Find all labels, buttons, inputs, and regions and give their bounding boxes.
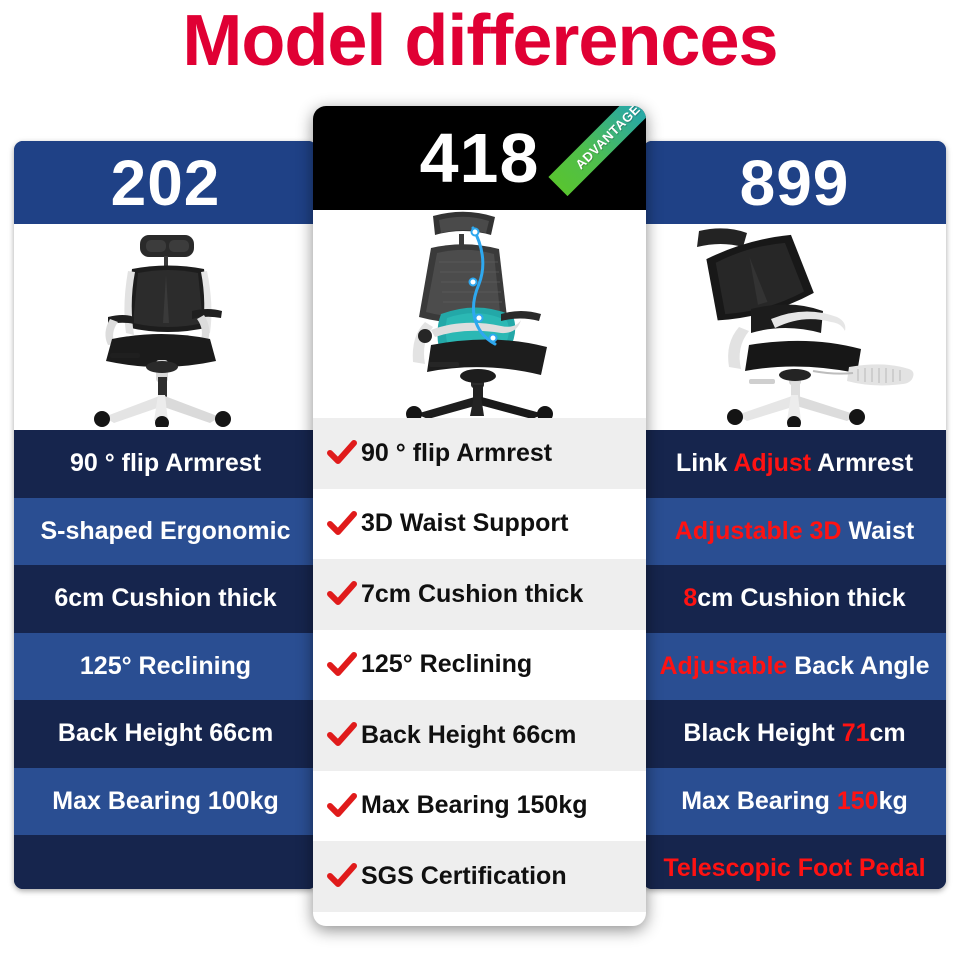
red-check-icon	[327, 863, 357, 889]
model-number-418: 418	[420, 123, 540, 193]
red-check-icon	[327, 440, 357, 466]
feature-row: Back Height 66cm	[14, 700, 317, 768]
feature-list-899: Link Adjust Armrest Adjustable 3D Waist …	[643, 430, 946, 889]
model-column-418: 418 ADVANTAGES	[313, 106, 646, 926]
feature-row: 125° Reclining	[14, 633, 317, 701]
red-check-icon	[327, 722, 357, 748]
feature-row: Black Height 71cm	[643, 700, 946, 768]
feature-row-empty	[14, 835, 317, 889]
model-header-418: 418 ADVANTAGES	[313, 106, 646, 210]
model-header-202: 202	[14, 141, 317, 227]
feature-list-418: 90 ° flip Armrest 3D Waist Support 7cm C…	[313, 418, 646, 912]
feature-row: Max Bearing 150kg	[313, 771, 646, 842]
red-check-icon	[327, 581, 357, 607]
advantages-ribbon-label: ADVANTAGES	[572, 106, 646, 172]
feature-row: Back Height 66cm	[313, 700, 646, 771]
chair-illustration-899	[643, 227, 946, 427]
red-check-icon	[327, 793, 357, 819]
model-number-899: 899	[740, 151, 850, 215]
advantages-ribbon: ADVANTAGES	[548, 106, 646, 196]
feature-row: Max Bearing 100kg	[14, 768, 317, 836]
feature-row: Link Adjust Armrest	[643, 430, 946, 498]
feature-row: 7cm Cushion thick	[313, 559, 646, 630]
model-header-899: 899	[643, 141, 946, 227]
feature-row: 90 ° flip Armrest	[14, 430, 317, 498]
feature-row: 90 ° flip Armrest	[313, 418, 646, 489]
feature-row: Telescopic Foot Pedal	[643, 835, 946, 889]
chair-photo-202	[14, 227, 317, 430]
feature-row: 6cm Cushion thick	[14, 565, 317, 633]
model-column-202: 202	[14, 141, 317, 889]
chair-illustration-202	[14, 227, 317, 427]
page-title: Model differences	[0, 4, 960, 80]
feature-row: 125° Reclining	[313, 630, 646, 701]
feature-row: Adjustable Back Angle	[643, 633, 946, 701]
feature-row: Max Bearing 150kg	[643, 768, 946, 836]
feature-row: S-shaped Ergonomic	[14, 498, 317, 566]
model-number-202: 202	[111, 151, 221, 215]
feature-row: 3D Waist Support	[313, 489, 646, 560]
comparison-infographic: Model differences 202	[0, 0, 960, 960]
feature-list-202: 90 ° flip Armrest S-shaped Ergonomic 6cm…	[14, 430, 317, 889]
chair-photo-899	[643, 227, 946, 430]
model-column-899: 899	[643, 141, 946, 889]
chair-illustration-418	[313, 210, 646, 418]
feature-row: Adjustable 3D Waist	[643, 498, 946, 566]
red-check-icon	[327, 511, 357, 537]
red-check-icon	[327, 652, 357, 678]
chair-photo-418	[313, 210, 646, 418]
feature-row: SGS Certification	[313, 841, 646, 912]
feature-row: 8cm Cushion thick	[643, 565, 946, 633]
